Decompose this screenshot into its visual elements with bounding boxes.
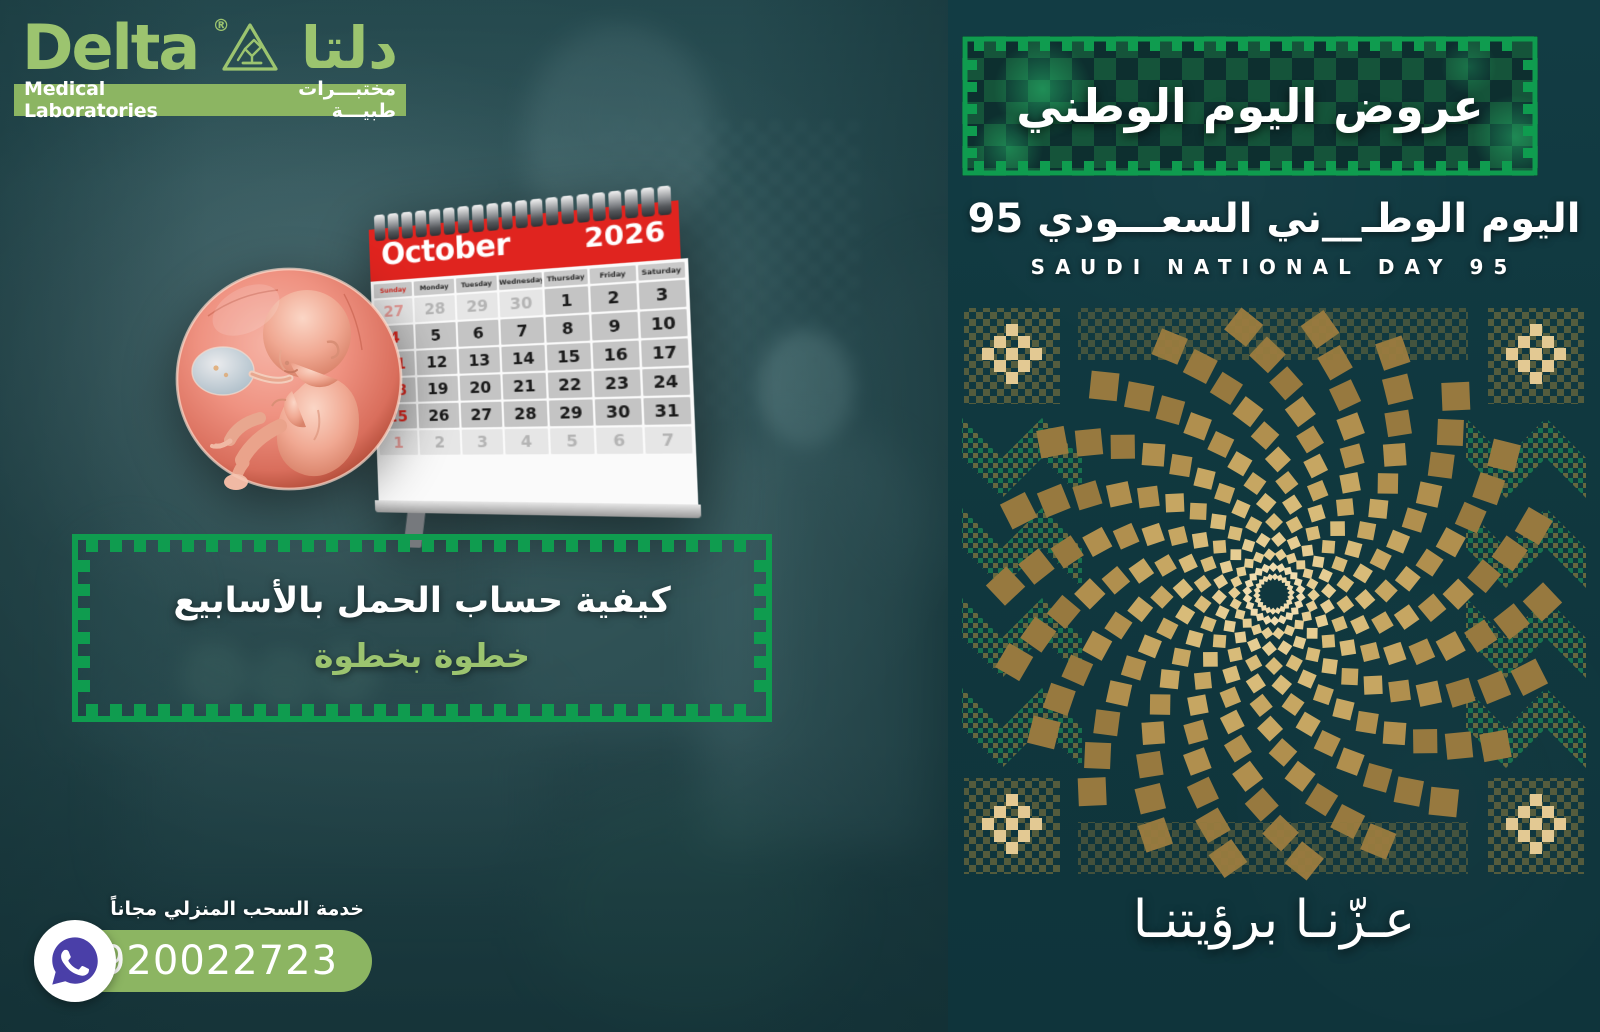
mandala-tile <box>1200 616 1216 632</box>
logo-tagline-band: Medical Laboratories مختبـــرات طبيـــة <box>14 84 406 116</box>
mandala-tile <box>1121 655 1146 680</box>
mandala-tile <box>1243 619 1252 628</box>
logo-wordmark-row: Delta ® دلتا <box>14 14 406 84</box>
mandala-tile <box>1106 481 1132 507</box>
mandala-tile <box>1320 599 1335 614</box>
mandala-tile <box>1261 564 1270 573</box>
logo-tagline-ar: مختبـــرات طبيـــة <box>235 78 396 122</box>
mandala-tile <box>1408 638 1435 665</box>
mandala-tile <box>1156 395 1186 425</box>
mandala-tile <box>1394 604 1420 630</box>
mandala-tile <box>1275 549 1287 561</box>
mandala-tile <box>1307 480 1328 501</box>
mandala-tile <box>1416 681 1442 707</box>
mandala-tile <box>1382 374 1413 405</box>
mandala-tile <box>1340 443 1365 468</box>
checker-strip <box>1078 822 1468 874</box>
corner-diamond-motif <box>1488 778 1584 874</box>
mandala-tile <box>1220 687 1241 708</box>
mandala-tile <box>1287 536 1301 550</box>
mandala-tile <box>1368 499 1388 519</box>
mandala-tile <box>1192 532 1209 549</box>
mandala-tile <box>1296 425 1324 453</box>
mandala-tile <box>1386 530 1410 554</box>
logo-tagline-en: Medical Laboratories <box>24 78 235 122</box>
mandala-tile <box>1250 694 1273 717</box>
mandala-tile <box>1271 675 1292 696</box>
logo-word-en: Delta <box>22 17 198 79</box>
mandala-tile <box>1429 787 1460 818</box>
mandala-tile <box>1215 605 1229 619</box>
calendar-day: 19 <box>418 376 459 402</box>
registered-mark: ® <box>213 16 230 36</box>
mandala-tile <box>1230 549 1241 560</box>
mandala-tile <box>1383 721 1407 745</box>
mandala-tile <box>1339 472 1360 493</box>
mandala-tile <box>1150 585 1173 608</box>
calendar-weekday: Saturday <box>637 262 685 281</box>
mandala-tile <box>1415 549 1443 577</box>
mandala-tile <box>1282 693 1305 716</box>
national-day-subtitle-ar: اليوم الوطـ__ني السعـــودي 95 <box>948 196 1600 242</box>
mandala-tile <box>1276 563 1286 573</box>
mandala-tile <box>1078 777 1107 806</box>
mandala-tile <box>1305 526 1320 541</box>
calendar-day: 14 <box>502 345 546 372</box>
mandala-tile <box>1231 499 1250 518</box>
mandala-tile <box>1341 668 1358 685</box>
mandala-tile <box>1272 627 1285 640</box>
mandala-tile <box>1321 658 1337 674</box>
mandala-tile <box>1138 634 1162 658</box>
mandala-tile <box>1286 553 1297 564</box>
mandala-tile <box>1275 471 1298 494</box>
mandala-tile <box>1243 472 1266 495</box>
right-panel: عروض اليوم الوطني اليوم الوطـ__ني السعــ… <box>948 0 1600 1032</box>
mandala-tile <box>1256 533 1271 548</box>
mandala-tile <box>1193 467 1215 489</box>
checker-strip <box>1078 308 1468 360</box>
mandala-tile <box>1321 583 1336 598</box>
mandala-tile <box>1075 428 1103 456</box>
mandala-tile <box>1178 554 1197 573</box>
mandala-tile <box>1364 676 1383 695</box>
sadu-zigzag-band <box>962 418 1082 768</box>
mandala-tile <box>1200 556 1216 572</box>
calendar-year: 2026 <box>584 217 666 251</box>
mandala-tile <box>1306 600 1318 612</box>
mandala-tile <box>1303 568 1314 579</box>
mandala-tile <box>1269 366 1303 400</box>
mandala-tile <box>1418 593 1447 622</box>
contact-block[interactable]: خدمة السحب المنزلي مجاناً 920022723 <box>22 898 382 1006</box>
mandala-tile <box>1370 548 1392 570</box>
mandala-tile <box>1142 443 1166 467</box>
calendar-weekday: Friday <box>590 265 636 284</box>
mandala-tile <box>1172 648 1191 667</box>
calendar-day: 30 <box>500 289 543 317</box>
mandala-tile <box>1277 640 1292 655</box>
mandala-tile <box>1355 589 1376 610</box>
mandala-tile <box>1187 777 1219 809</box>
microscope-triangle-icon: ® <box>221 22 279 74</box>
mandala-tile <box>1288 589 1295 596</box>
mandala-tile <box>1135 783 1166 814</box>
mandala-tile <box>1175 605 1195 625</box>
mandala-tile <box>1394 776 1424 806</box>
mandala-tile <box>1137 486 1160 509</box>
mandala-tile <box>1428 452 1455 479</box>
mandala-tile <box>1246 673 1266 693</box>
poster-root: Delta ® دلتا Medical Laboratories مختبــ… <box>0 0 1600 1032</box>
whatsapp-icon[interactable] <box>34 920 116 1002</box>
mandala-tile <box>1244 558 1254 568</box>
mandala-tile <box>1220 710 1245 735</box>
fetus-in-womb-illustration <box>168 258 406 496</box>
calendar-day: 26 <box>419 403 460 428</box>
mandala-tile <box>1336 595 1354 613</box>
calendar-day: 20 <box>459 374 501 400</box>
contact-service-label: خدمة السحب المنزلي مجاناً <box>110 898 364 920</box>
mandala-tile <box>1305 647 1320 662</box>
national-day-subtitle-en: SAUDI NATIONAL DAY 95 <box>948 255 1600 279</box>
mandala-tile <box>1286 655 1303 672</box>
mandala-tile <box>1315 614 1328 627</box>
mandala-tile <box>1312 556 1324 568</box>
mandala-tile <box>1265 513 1283 531</box>
mandala-tile <box>1136 751 1164 779</box>
mandala-tile <box>1306 578 1318 590</box>
desk-calendar: October 2026 SundayMondayTuesdayWednesda… <box>363 188 724 518</box>
mandala-tile <box>1384 410 1412 438</box>
mandala-tile <box>1251 624 1262 635</box>
mandala-tile <box>1339 639 1356 656</box>
mandala-tile <box>1106 680 1132 706</box>
mandala-tile <box>1194 672 1212 690</box>
mandala-tile <box>1305 783 1338 816</box>
mandala-tile <box>1479 730 1512 763</box>
mandala-tile <box>1318 568 1332 582</box>
mandala-tile <box>1127 596 1153 622</box>
mandala-tile <box>1183 747 1212 776</box>
mandala-tile <box>1236 566 1246 576</box>
brand-logo[interactable]: Delta ® دلتا Medical Laboratories مختبــ… <box>14 14 406 116</box>
mandala-tile <box>1374 579 1397 602</box>
calendar-day: 28 <box>504 401 548 427</box>
calendar-day: 12 <box>417 349 458 375</box>
sadu-ornament-pattern <box>948 298 1600 884</box>
left-panel: Delta ® دلتا Medical Laboratories مختبــ… <box>0 0 948 1032</box>
mandala-tile <box>1213 574 1228 589</box>
mandala-tile <box>1307 589 1320 602</box>
mandala-tile <box>1301 545 1313 557</box>
calendar-weekday: Tuesday <box>456 276 498 293</box>
mandala-tile <box>1228 526 1243 541</box>
calendar-day: 21 <box>503 373 547 400</box>
mandala-tile <box>1245 788 1279 822</box>
mandala-tile <box>1282 494 1302 514</box>
mandala-tile <box>1344 540 1362 558</box>
mandala-tile <box>1294 620 1304 630</box>
mandala-tile <box>1293 636 1307 650</box>
mandala-tile <box>1371 611 1394 634</box>
mandala-tile <box>1286 516 1303 533</box>
mandala-tile <box>1296 560 1305 569</box>
mandala-tile <box>1253 552 1265 564</box>
mandala-tile <box>1203 652 1218 667</box>
mandala-tile <box>1313 684 1334 705</box>
calendar-day: 4 <box>505 428 549 454</box>
calendar-day: 2 <box>590 283 637 312</box>
mandala-tile <box>1436 631 1466 661</box>
mandala-tile <box>1173 578 1194 599</box>
spiral-mandala-motif <box>986 308 1562 881</box>
mandala-tile <box>1230 576 1242 588</box>
mandala-tile <box>1336 498 1354 516</box>
calendar-day: 10 <box>639 309 687 338</box>
mandala-tile <box>1224 620 1236 632</box>
mandala-tile <box>1363 763 1393 793</box>
corner-diamond-motif <box>1488 308 1584 404</box>
corner-diamond-motif <box>964 778 1060 874</box>
mandala-tile <box>1207 431 1234 458</box>
calendar-day: 1 <box>544 286 589 315</box>
mandala-tile <box>1360 642 1380 662</box>
mandala-tile <box>1212 589 1227 604</box>
mandala-tile <box>1156 617 1178 639</box>
calendar-day: 8 <box>545 315 590 343</box>
mandala-tile <box>1165 493 1184 512</box>
mandala-tile <box>1436 527 1466 557</box>
mandala-tile <box>1383 642 1406 665</box>
calendar-day: 7 <box>501 317 544 345</box>
mandala-tile <box>1235 609 1246 620</box>
mandala-tile <box>1330 521 1345 536</box>
mandala-tile <box>1262 641 1277 656</box>
mandala-tile <box>1089 371 1120 402</box>
calendar-day: 24 <box>642 368 690 396</box>
mandala-tile <box>1307 504 1325 522</box>
calendar-day: 29 <box>549 399 594 426</box>
mandala-tile <box>1141 721 1165 745</box>
calendar-day: 31 <box>643 397 691 425</box>
mandala-tile <box>1213 540 1227 554</box>
mandala-tile <box>1296 592 1306 602</box>
mandala-tile <box>1445 731 1473 759</box>
calendar-day: 29 <box>456 292 498 320</box>
mandala-tile <box>1093 709 1120 736</box>
mandala-tile <box>1210 372 1243 405</box>
headline-box: كيفية حساب الحمل بالأسابيع خطوة بخطوة <box>72 534 772 722</box>
mandala-tile <box>1082 527 1112 557</box>
mandala-tile <box>1303 454 1328 479</box>
left-panel-vignette <box>0 0 948 1032</box>
calendar-day: 6 <box>596 427 643 454</box>
mandala-tile <box>1245 654 1262 671</box>
headline-text-group: كيفية حساب الحمل بالأسابيع خطوة بخطوة <box>72 534 772 722</box>
mandala-tile <box>1322 634 1336 648</box>
mandala-tile <box>1357 521 1376 540</box>
mandala-tile <box>1388 680 1411 703</box>
mandala-tile <box>1278 615 1287 624</box>
mandala-tile <box>1084 742 1111 769</box>
mandala-tile <box>1350 615 1369 634</box>
mandala-tile <box>1251 421 1280 450</box>
mandala-tile <box>1322 540 1336 554</box>
mandala-tile <box>1336 747 1365 776</box>
mandala-tile <box>1169 454 1192 477</box>
mandala-tile <box>1256 493 1277 514</box>
mandala-tile <box>1129 558 1155 584</box>
sadu-zigzag-band <box>1466 418 1586 768</box>
mandala-tile <box>1160 669 1180 689</box>
mandala-tile <box>1269 738 1298 767</box>
mandala-tile <box>1213 634 1227 648</box>
calendar-day: 16 <box>593 341 640 369</box>
calendar-weekday: Monday <box>414 279 454 296</box>
mandala-tile <box>1265 446 1291 472</box>
mandala-tile <box>1220 560 1233 573</box>
mandala-tile <box>1190 503 1207 520</box>
mandala-tile <box>1227 451 1252 476</box>
mandala-tile <box>1124 381 1154 411</box>
logo-word-ar: دلتا <box>301 19 398 77</box>
mandala-tile <box>1353 563 1373 583</box>
banner-title: عروض اليوم الوطني <box>962 36 1538 176</box>
mandala-tile <box>1150 694 1171 715</box>
mandala-tile <box>1262 615 1272 625</box>
mandala-tile <box>1111 435 1135 459</box>
calendar-day: 30 <box>595 398 642 425</box>
mandala-tile <box>1402 507 1427 532</box>
calendar-day: 17 <box>641 338 689 367</box>
calendar-day: 7 <box>644 426 692 453</box>
calendar-day: 22 <box>547 371 592 398</box>
calendar-body: SundayMondayTuesdayWednesdayThursdayFrid… <box>371 258 699 509</box>
mandala-tile <box>1441 382 1470 411</box>
mandala-tile <box>1261 627 1273 639</box>
mandala-tile <box>1395 566 1421 592</box>
mandala-tile <box>1194 575 1212 593</box>
calendar-day: 3 <box>638 280 686 310</box>
mandala-tile <box>1104 611 1132 639</box>
calendar-day: 5 <box>550 428 595 454</box>
mandala-tile <box>1230 598 1242 610</box>
headline-primary: كيفية حساب الحمل بالأسابيع <box>173 581 670 621</box>
mandala-tile <box>1314 730 1341 757</box>
mandala-tile <box>1307 628 1318 639</box>
ornament-field <box>948 298 1600 884</box>
calendar-day: 28 <box>415 295 456 322</box>
mandala-tile <box>1437 419 1464 446</box>
mandala-tile <box>1222 666 1240 684</box>
calendar-day: 23 <box>594 369 641 397</box>
mandala-tile <box>1082 631 1112 661</box>
mandala-tile <box>1356 711 1379 734</box>
mandala-tile <box>1224 735 1252 763</box>
mandala-tile <box>1285 761 1316 792</box>
mandala-tile <box>1142 523 1165 546</box>
mandala-tile <box>1332 698 1354 720</box>
mandala-tile <box>1378 473 1399 494</box>
mandala-tile <box>1296 712 1321 737</box>
mandala-tile <box>1227 647 1242 662</box>
calendar-day: 2 <box>420 430 461 455</box>
mandala-tile <box>1413 729 1437 753</box>
mandala-tile <box>1297 669 1316 688</box>
mandala-tile <box>1383 443 1407 467</box>
corner-diamond-motif <box>964 308 1060 404</box>
mandala-tile <box>1183 720 1208 745</box>
mandala-tile <box>1194 595 1212 613</box>
mandala-tile <box>1187 694 1208 715</box>
mandala-tile <box>1257 716 1283 742</box>
mandala-tile <box>1336 575 1354 593</box>
mandala-tile <box>1234 631 1246 643</box>
mandala-tile <box>1245 516 1262 533</box>
calendar-day: 9 <box>592 312 639 341</box>
calendar-day-grid: 2728293012345678910111213141516171819202… <box>374 280 692 455</box>
mandala-tile <box>1263 548 1276 561</box>
mandala-tile <box>1210 514 1226 530</box>
calendar-day: 3 <box>462 429 504 455</box>
calendar-day: 6 <box>457 320 499 347</box>
mandala-tile <box>1186 630 1204 648</box>
mandala-tile <box>1265 657 1283 675</box>
mandala-tile <box>1247 638 1261 652</box>
mandala-tile <box>1232 761 1263 792</box>
calendar-day: 27 <box>460 402 502 428</box>
mandala-tile <box>1102 566 1131 595</box>
mandala-tile <box>1331 556 1347 572</box>
mandala-tile <box>1329 379 1361 411</box>
mandala-tile <box>1154 554 1177 577</box>
mandala-tile <box>1228 587 1241 600</box>
mandala-tile <box>1416 481 1442 507</box>
mandala-tile <box>1336 412 1365 441</box>
calendar-weekday: Thursday <box>544 269 589 287</box>
calendar-weekday: Wednesday <box>499 272 542 290</box>
mandala-tile <box>1214 483 1235 504</box>
national-day-banner: عروض اليوم الوطني <box>962 36 1538 176</box>
mandala-tile <box>1242 539 1256 553</box>
mandala-tile <box>1285 396 1316 427</box>
mandala-tile <box>1113 523 1140 550</box>
mandala-tile <box>1183 412 1212 441</box>
mandala-tile <box>1331 616 1347 632</box>
mandala-tile <box>1036 426 1069 459</box>
mandala-tile <box>1232 396 1263 427</box>
mandala-tile <box>1284 625 1296 637</box>
calendar-day: 13 <box>458 347 500 374</box>
mandala-tile <box>1271 532 1286 547</box>
headline-secondary: خطوة بخطوة <box>314 637 530 675</box>
calendar-day: 5 <box>416 322 457 349</box>
national-day-slogan: عـزّنـا برؤيتنـا <box>948 890 1600 950</box>
mandala-tile <box>1168 526 1188 546</box>
phone-number: 920022723 <box>100 938 338 984</box>
mandala-tile <box>1302 611 1312 621</box>
calendar-day: 15 <box>546 343 591 371</box>
